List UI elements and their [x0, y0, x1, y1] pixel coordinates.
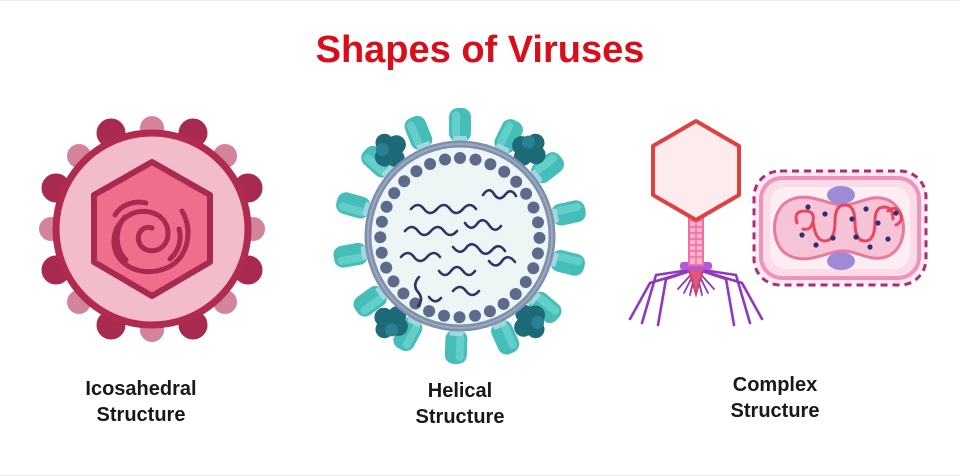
helical-virus-icon	[333, 111, 587, 361]
helical-caption-line2: Structure	[310, 404, 610, 430]
page-title: Shapes of Viruses	[0, 29, 960, 72]
helical-caption: Helical Structure	[310, 378, 610, 431]
complex-caption-line1: Complex	[625, 372, 925, 398]
icosahedral-caption-line2: Structure	[0, 402, 291, 428]
pox-lateral-body-top	[827, 186, 855, 204]
icosahedral-caption-line1: Icosahedral	[0, 376, 291, 402]
complex-virus-icon	[620, 119, 930, 354]
poxvirus	[754, 171, 926, 285]
pox-lateral-body-bottom	[827, 252, 855, 270]
helical-caption-line1: Helical	[310, 378, 610, 404]
complex-caption-line2: Structure	[625, 398, 925, 424]
bacteriophage	[630, 121, 762, 325]
phage-head	[653, 121, 739, 220]
icosahedral-virus-icon	[22, 99, 282, 359]
poster-canvas: Shapes of Viruses	[0, 0, 960, 476]
complex-caption: Complex Structure	[625, 372, 925, 425]
icosahedral-caption: Icosahedral Structure	[0, 376, 291, 429]
